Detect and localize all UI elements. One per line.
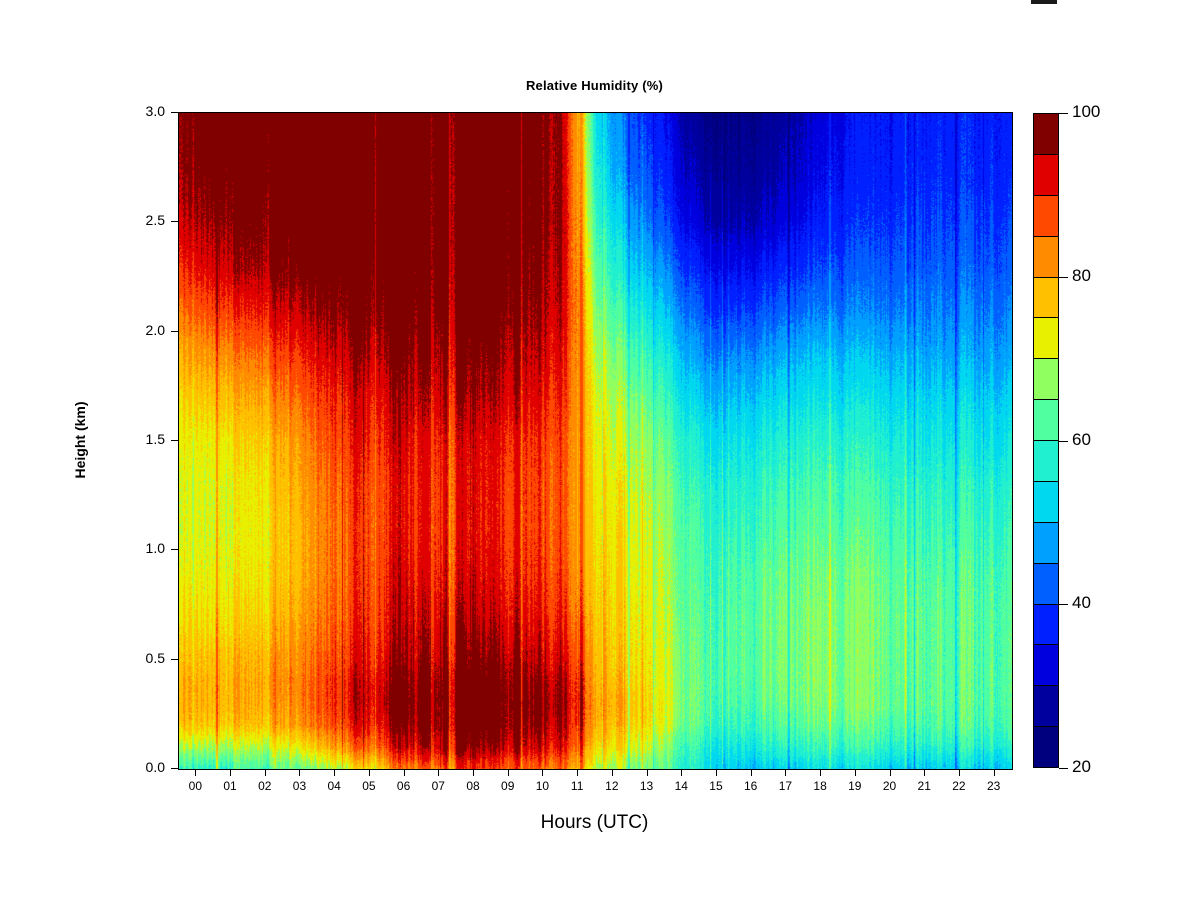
colorbar-cell-10 [1034,318,1058,359]
y-tick-0.5 [171,659,178,660]
x-tick-04 [334,769,335,776]
colorbar-cell-12 [1034,237,1058,278]
x-tick-19 [855,769,856,776]
x-tick-09 [508,769,509,776]
colorbar-label-20: 20 [1072,757,1091,777]
colorbar-label-40: 40 [1072,593,1091,613]
colorbar-tick-80 [1059,277,1068,278]
heatmap-plot-area [178,112,1013,770]
x-tick-14 [681,769,682,776]
x-tick-20 [890,769,891,776]
x-tick-08 [473,769,474,776]
x-tick-22 [959,769,960,776]
colorbar-cell-14 [1034,155,1058,196]
x-tick-05 [369,769,370,776]
page-title: Relative Humidity (%) [178,78,1011,93]
x-tick-02 [265,769,266,776]
x-tick-00 [195,769,196,776]
x-tick-16 [751,769,752,776]
colorbar-label-60: 60 [1072,430,1091,450]
y-tick-2.0 [171,331,178,332]
x-tick-21 [924,769,925,776]
x-tick-01 [230,769,231,776]
x-tick-06 [404,769,405,776]
colorbar-cell-9 [1034,359,1058,400]
y-tick-label-0.5: 0.5 [113,650,165,666]
y-tick-label-1.5: 1.5 [113,431,165,447]
colorbar-cell-11 [1034,278,1058,319]
x-tick-15 [716,769,717,776]
colorbar-cell-3 [1034,605,1058,646]
x-tick-03 [299,769,300,776]
colorbar-cell-6 [1034,482,1058,523]
colorbar-cell-5 [1034,523,1058,564]
figure-canvas: Relative Humidity (%) 000102030405060708… [0,0,1200,900]
colorbar-tick-20 [1059,768,1068,769]
x-tick-18 [820,769,821,776]
y-tick-2.5 [171,221,178,222]
colorbar-cell-4 [1034,564,1058,605]
colorbar-tick-60 [1059,441,1068,442]
y-axis-title: Height (km) [72,340,88,540]
x-axis-title: Hours (UTC) [178,812,1011,834]
colorbar-cell-13 [1034,196,1058,237]
x-tick-23 [994,769,995,776]
colorbar-cell-1 [1034,686,1058,727]
colorbar [1033,113,1059,768]
colorbar-tick-100 [1059,113,1068,114]
y-tick-label-2.5: 2.5 [113,212,165,228]
x-tick-10 [542,769,543,776]
y-tick-1.0 [171,549,178,550]
colorbar-cell-8 [1034,400,1058,441]
x-tick-13 [647,769,648,776]
y-tick-label-2.0: 2.0 [113,322,165,338]
y-tick-1.5 [171,440,178,441]
top-edge-artifact [1031,0,1057,4]
x-tick-17 [785,769,786,776]
colorbar-tick-40 [1059,604,1068,605]
colorbar-cell-7 [1034,441,1058,482]
y-tick-label-1.0: 1.0 [113,540,165,556]
x-tick-12 [612,769,613,776]
colorbar-label-80: 80 [1072,266,1091,286]
colorbar-cell-0 [1034,727,1058,767]
y-tick-3.0 [171,112,178,113]
x-tick-07 [438,769,439,776]
y-tick-label-0.0: 0.0 [113,759,165,775]
y-tick-0.0 [171,768,178,769]
x-tick-11 [577,769,578,776]
x-tick-label-23: 23 [974,779,1014,793]
y-tick-label-3.0: 3.0 [113,103,165,119]
colorbar-label-100: 100 [1072,102,1100,122]
relative-humidity-heatmap [179,113,1012,769]
colorbar-cell-15 [1034,114,1058,155]
colorbar-cell-2 [1034,645,1058,686]
